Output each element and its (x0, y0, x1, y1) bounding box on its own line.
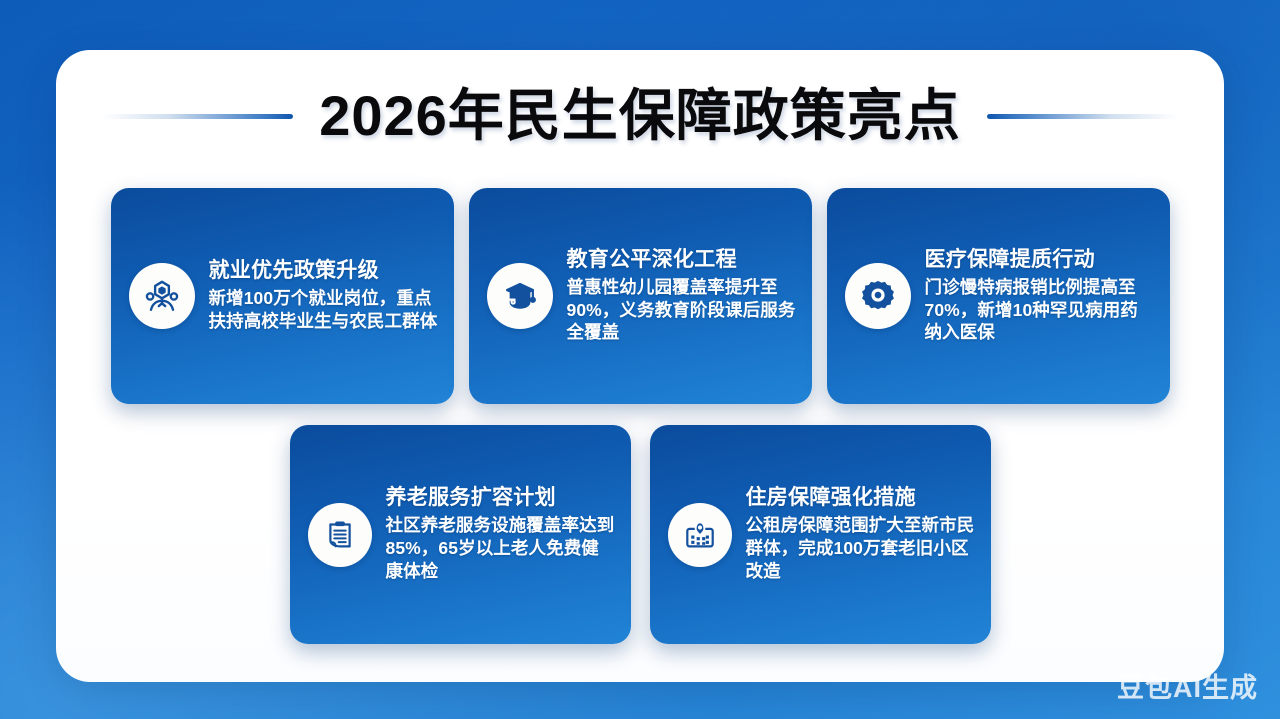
card-description: 社区养老服务设施覆盖率达到85%，65岁以上老人免费健康体检 (386, 514, 615, 582)
title-row: 2026年民生保障政策亮点 (56, 88, 1224, 144)
card-text-block: 养老服务扩容计划 社区养老服务设施覆盖率达到85%，65岁以上老人免费健康体检 (386, 486, 615, 582)
card-description: 公租房保障范围扩大至新市民群体，完成100万套老旧小区改造 (746, 514, 975, 582)
card-text-block: 就业优先政策升级 新增100万个就业岗位，重点扶持高校毕业生与农民工群体 (209, 259, 438, 332)
clipboard-icon (308, 503, 372, 567)
policy-card-housing[interactable]: 住房保障强化措施 公租房保障范围扩大至新市民群体，完成100万套老旧小区改造 (650, 425, 991, 644)
card-description: 普惠性幼儿园覆盖率提升至90%，义务教育阶段课后服务全覆盖 (567, 276, 796, 344)
infographic-canvas: 2026年民生保障政策亮点 就业优先政 (0, 0, 1280, 719)
card-text-block: 医疗保障提质行动 门诊慢特病报销比例提高至70%，新增10种罕见病用药纳入医保 (925, 248, 1154, 344)
policy-card-eldercare[interactable]: 养老服务扩容计划 社区养老服务设施覆盖率达到85%，65岁以上老人免费健康体检 (290, 425, 631, 644)
graduation-cap-icon (487, 263, 553, 329)
card-title: 养老服务扩容计划 (386, 486, 615, 511)
card-text-block: 住房保障强化措施 公租房保障范围扩大至新市民群体，完成100万套老旧小区改造 (746, 486, 975, 582)
content-panel: 2026年民生保障政策亮点 就业优先政 (56, 50, 1224, 682)
card-title: 医疗保障提质行动 (925, 248, 1154, 273)
policy-card-employment[interactable]: 就业优先政策升级 新增100万个就业岗位，重点扶持高校毕业生与农民工群体 (111, 188, 454, 404)
people-group-icon (129, 263, 195, 329)
card-description: 门诊慢特病报销比例提高至70%，新增10种罕见病用药纳入医保 (925, 276, 1154, 344)
card-row-top: 就业优先政策升级 新增100万个就业岗位，重点扶持高校毕业生与农民工群体 (56, 188, 1224, 404)
page-title: 2026年民生保障政策亮点 (319, 88, 961, 144)
card-text-block: 教育公平深化工程 普惠性幼儿园覆盖率提升至90%，义务教育阶段课后服务全覆盖 (567, 248, 796, 344)
card-title: 教育公平深化工程 (567, 248, 796, 273)
card-title: 就业优先政策升级 (209, 259, 438, 284)
title-rule-right (987, 114, 1177, 119)
gear-icon (845, 263, 911, 329)
policy-card-healthcare[interactable]: 医疗保障提质行动 门诊慢特病报销比例提高至70%，新增10种罕见病用药纳入医保 (827, 188, 1170, 404)
card-description: 新增100万个就业岗位，重点扶持高校毕业生与农民工群体 (209, 287, 438, 333)
policy-card-education[interactable]: 教育公平深化工程 普惠性幼儿园覆盖率提升至90%，义务教育阶段课后服务全覆盖 (469, 188, 812, 404)
card-title: 住房保障强化措施 (746, 486, 975, 511)
title-rule-left (103, 114, 293, 119)
card-row-bottom: 养老服务扩容计划 社区养老服务设施覆盖率达到85%，65岁以上老人免费健康体检 (56, 425, 1224, 644)
building-pin-icon (668, 503, 732, 567)
